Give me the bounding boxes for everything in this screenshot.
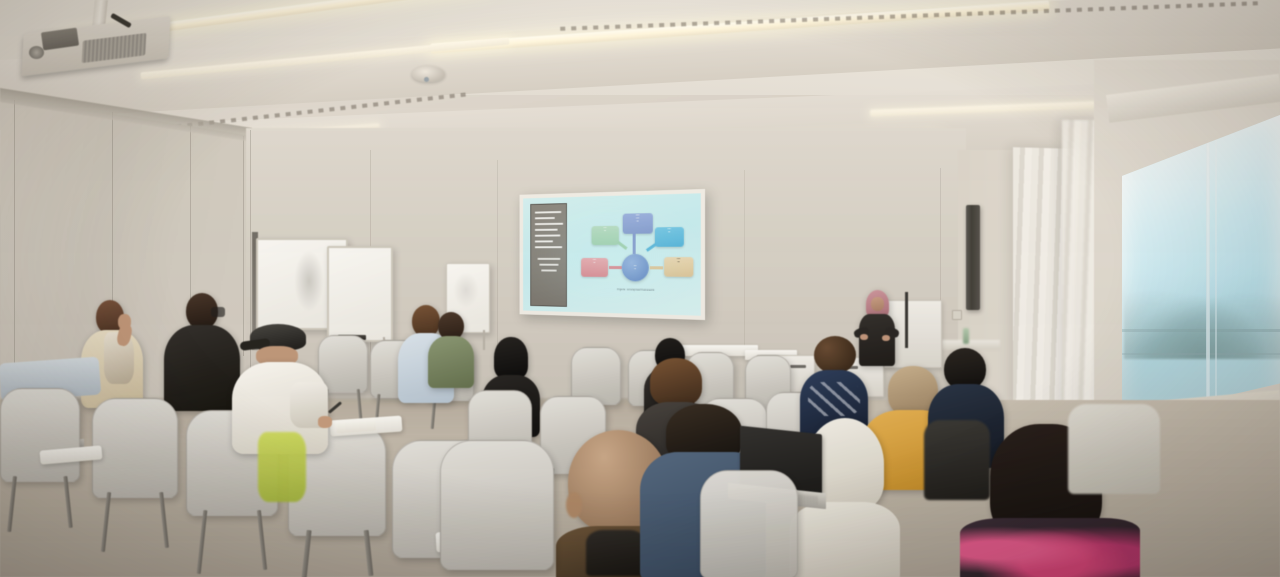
slide-caption: Figure: conceptual framework	[595, 288, 677, 292]
slide-node-top: ▪▪▪▪▪▪▪▪▪▪▪▪	[623, 213, 653, 234]
slide-node-left: ▪▪▪▪▪▪▪	[581, 258, 608, 277]
attendee-man-black-shirt	[164, 293, 242, 413]
projection-screen: ▪▪▪▪▪▪▪▪▪▪▪▪ ▪▪▪▪▪▪▪ ▪▪▪▪▪▪▪ ▪▪▪▪▪▪▪ ▪▪▪…	[520, 189, 706, 320]
presenter-face	[871, 297, 884, 311]
mic-stand	[905, 292, 908, 348]
smoke-detector-led	[424, 77, 429, 82]
slide-node-right-upper: ▪▪▪▪▪▪▪	[655, 227, 684, 247]
whiteboard-easel	[327, 246, 393, 342]
wall-seam-1	[14, 100, 15, 400]
front-wall-seam-3	[497, 160, 498, 350]
small-plant	[963, 328, 969, 344]
slide-text-panel	[530, 203, 567, 307]
slide-arrow-tan	[650, 266, 663, 269]
chair-r1[interactable]	[1068, 404, 1160, 494]
yellow-bag	[258, 432, 306, 502]
slide-diagram-hub: ▪▪▪▪▪	[622, 254, 649, 282]
projector-lens	[29, 46, 44, 59]
attendee-hand-writing	[318, 416, 332, 428]
projection-screen-surface: ▪▪▪▪▪▪▪▪▪▪▪▪ ▪▪▪▪▪▪▪ ▪▪▪▪▪▪▪ ▪▪▪▪▪▪▪ ▪▪▪…	[523, 193, 701, 315]
chair-r2-dark[interactable]	[924, 420, 990, 500]
presenter-hand-right	[882, 335, 890, 341]
slide-node-right: ▪▪▪▪▪▪▪	[664, 257, 693, 277]
classroom-scene: ▪▪▪▪▪▪▪▪▪▪▪▪ ▪▪▪▪▪▪▪ ▪▪▪▪▪▪▪ ▪▪▪▪▪▪▪ ▪▪▪…	[0, 0, 1280, 577]
slide-arrow-green	[617, 241, 628, 250]
slide-arrow-top	[633, 234, 636, 254]
attendee-green-shirt	[428, 312, 474, 384]
slide-node-left-upper: ▪▪▪▪▪▪▪	[592, 226, 619, 245]
slide-arrow-red	[609, 266, 622, 269]
slide-arrow-cyan	[646, 243, 657, 252]
front-wall-seam-4	[744, 170, 745, 355]
column-speaker	[966, 205, 980, 310]
wall-outlet	[952, 310, 962, 320]
